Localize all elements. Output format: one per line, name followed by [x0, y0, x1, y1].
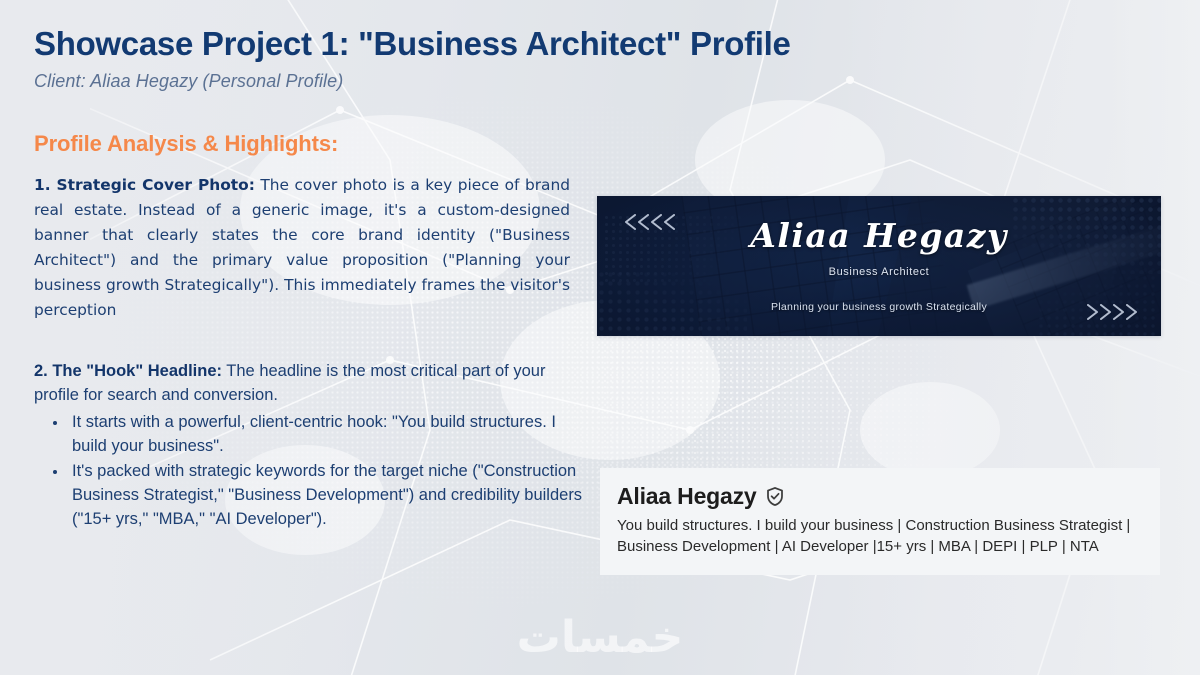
point-1-paragraph: 1. Strategic Cover Photo: The cover phot… — [34, 173, 570, 323]
linkedin-profile-card: Aliaa Hegazy You build structures. I bui… — [600, 468, 1160, 575]
list-item: It's packed with strategic keywords for … — [68, 459, 588, 531]
point-2-paragraph: 2. The "Hook" Headline: The headline is … — [34, 359, 582, 407]
profile-name: Aliaa Hegazy — [617, 483, 757, 510]
profile-name-row: Aliaa Hegazy — [617, 483, 1140, 510]
client-subtitle: Client: Aliaa Hegazy (Personal Profile) — [34, 71, 586, 92]
banner-tagline: Planning your business growth Strategica… — [771, 301, 987, 313]
point-1-label: 1. Strategic Cover Photo: — [34, 176, 255, 194]
point-2-bullet-list: It starts with a powerful, client-centri… — [68, 410, 588, 531]
left-content-column: Showcase Project 1: "Business Architect"… — [34, 0, 586, 532]
shield-check-icon — [765, 486, 785, 507]
banner-text-block: Aliaa Hegazy Business Architect Planning… — [597, 196, 1161, 336]
point-1-text: The cover photo is a key piece of brand … — [34, 176, 570, 319]
banner-role: Business Architect — [829, 266, 930, 278]
page-title: Showcase Project 1: "Business Architect"… — [34, 25, 586, 63]
section-heading: Profile Analysis & Highlights: — [34, 131, 586, 157]
banner-name: Aliaa Hegazy — [750, 216, 1007, 255]
list-item: It starts with a powerful, client-centri… — [68, 410, 588, 458]
site-watermark: خمسات — [0, 612, 1200, 663]
cover-photo-banner: Aliaa Hegazy Business Architect Planning… — [597, 196, 1161, 336]
profile-headline: You build structures. I build your busin… — [617, 516, 1140, 557]
point-2-label: 2. The "Hook" Headline: — [34, 362, 222, 380]
